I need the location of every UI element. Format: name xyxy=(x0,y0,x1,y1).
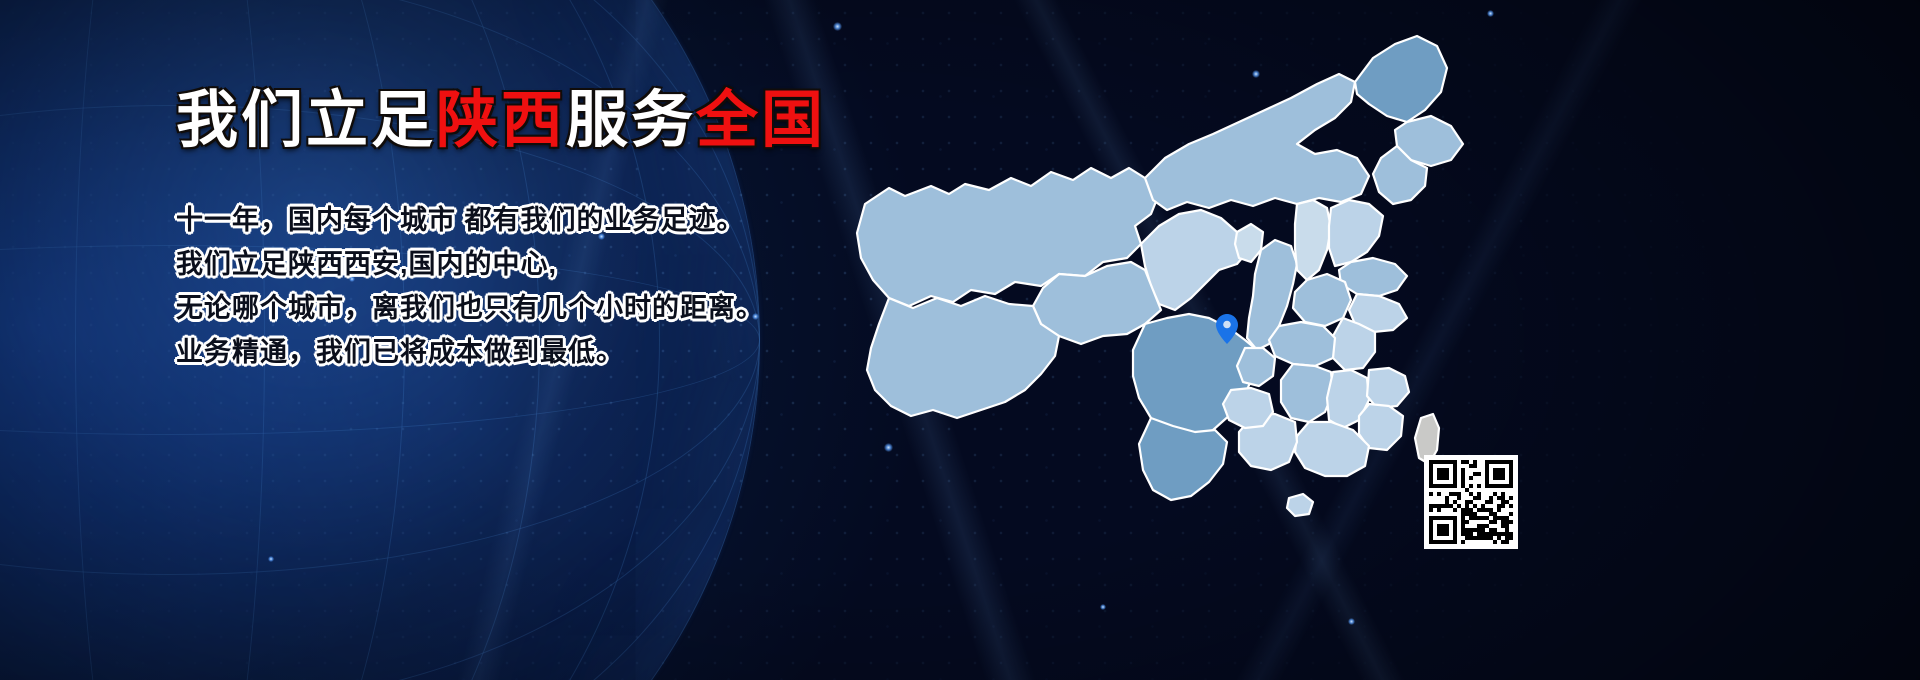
province-inner-mongolia xyxy=(1145,74,1369,210)
headline-part-4-highlight: 全国 xyxy=(696,86,826,155)
province-heilongjiang xyxy=(1355,36,1447,122)
body-copy-line-1: 十一年，国内每个城市 都有我们的业务足迹。 xyxy=(176,198,764,242)
spark-dot xyxy=(268,556,274,562)
province-hainan xyxy=(1287,494,1313,516)
headline-part-1: 我们立足 xyxy=(176,86,436,155)
headline-part-2-highlight: 陕西 xyxy=(436,86,566,155)
spark-dot xyxy=(1348,618,1355,625)
province-chongqing xyxy=(1237,348,1275,386)
spark-dot xyxy=(1487,10,1494,17)
province-shanxi xyxy=(1295,200,1331,280)
province-zhejiang xyxy=(1367,368,1409,408)
province-yunnan xyxy=(1139,418,1227,500)
body-copy-line-3: 无论哪个城市，离我们也只有几个小时的距离。 xyxy=(176,286,764,330)
province-shandong xyxy=(1339,258,1407,296)
province-hunan xyxy=(1281,364,1333,422)
spark-dot xyxy=(1100,604,1106,610)
province-hebei xyxy=(1329,200,1383,266)
promo-banner: 我们立足陕西服务全国 十一年，国内每个城市 都有我们的业务足迹。 我们立足陕西西… xyxy=(0,0,1920,680)
body-copy-line-2: 我们立足陕西西安,国内的中心, xyxy=(176,242,764,286)
body-copy: 十一年，国内每个城市 都有我们的业务足迹。 我们立足陕西西安,国内的中心, 无论… xyxy=(176,198,764,374)
province-xizang xyxy=(867,296,1059,418)
headline: 我们立足陕西服务全国 xyxy=(176,88,826,153)
body-copy-line-4: 业务精通，我们已将成本做到最低。 xyxy=(176,330,764,374)
province-guizhou xyxy=(1223,388,1273,428)
spark-dot xyxy=(833,22,842,31)
province-gansu xyxy=(1141,210,1249,310)
location-pin-icon xyxy=(1216,314,1238,344)
headline-part-3: 服务 xyxy=(566,86,696,155)
qr-code[interactable] xyxy=(1424,455,1518,549)
qr-code-modules xyxy=(1429,460,1513,544)
province-hubei xyxy=(1269,322,1335,366)
